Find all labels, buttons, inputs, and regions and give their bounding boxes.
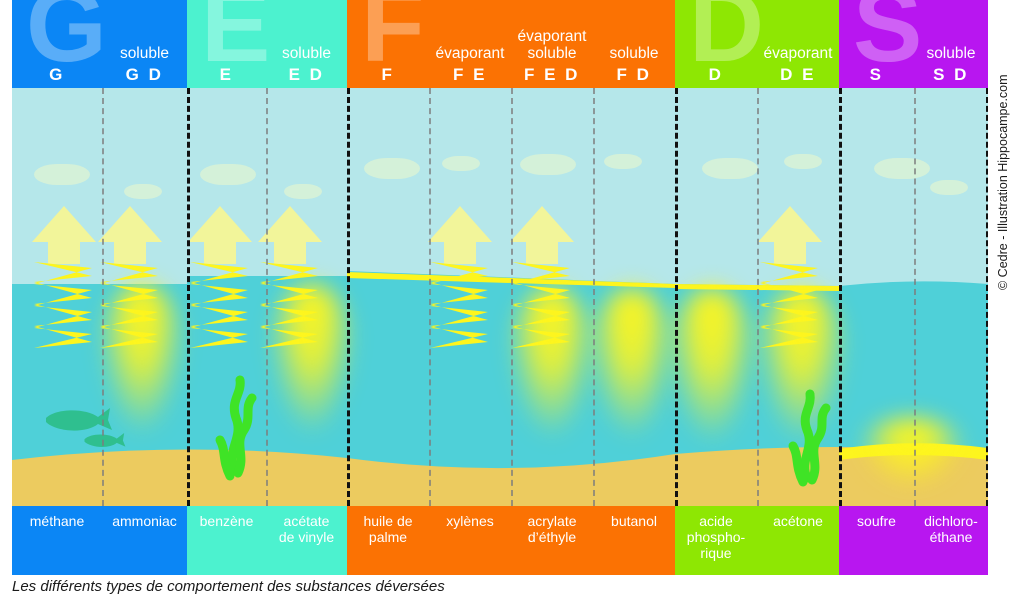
substance-label: butanol xyxy=(593,513,675,529)
column-header-fe[interactable]: évaporantF E xyxy=(429,0,511,88)
substance-cell-fed[interactable]: acrylate d’éthyle xyxy=(511,506,593,575)
column-header-fed[interactable]: évaporant solubleF E D xyxy=(511,0,593,88)
column-separator xyxy=(266,88,268,506)
credit-wrap: © Cedre - Illustration Hippocampe.com xyxy=(996,290,1020,560)
column-code: F D xyxy=(593,65,675,85)
column-separator xyxy=(429,88,431,506)
substance-label: méthane xyxy=(12,513,102,529)
column-header-e[interactable]: E xyxy=(187,0,266,88)
seaweed-icon-2 xyxy=(793,394,826,482)
header-row: GGAZEÉVAPORANTFFLOTTANTDDISSOUSSSÉDIMENT… xyxy=(12,0,988,88)
column-descriptor: soluble xyxy=(102,45,187,62)
fish-small-icon xyxy=(84,433,125,447)
group-separator xyxy=(187,88,190,506)
footer-row: méthaneammoniacbenzèneacétate de vinyleh… xyxy=(12,506,988,575)
credit-text: © Cedre - Illustration Hippocampe.com xyxy=(996,74,1010,290)
substance-label: benzène xyxy=(187,513,266,529)
substance-cell-gd[interactable]: ammoniac xyxy=(102,506,187,575)
substance-cell-sd[interactable]: dichloro- éthane xyxy=(914,506,988,575)
column-descriptor: évaporant xyxy=(429,45,511,62)
behaviour-diagram: GGAZEÉVAPORANTFFLOTTANTDDISSOUSSSÉDIMENT… xyxy=(12,0,988,575)
scene-panel xyxy=(12,88,988,506)
column-descriptor: évaporant soluble xyxy=(511,28,593,62)
column-code: D E xyxy=(757,65,839,85)
fish-icon xyxy=(42,236,44,506)
column-descriptor: soluble xyxy=(266,45,347,62)
group-separator xyxy=(675,88,678,506)
column-code: F xyxy=(347,65,429,85)
column-code: D xyxy=(675,65,757,85)
column-separator xyxy=(511,88,513,506)
column-descriptor: soluble xyxy=(593,45,675,62)
substance-cell-fe[interactable]: xylènes xyxy=(429,506,511,575)
column-header-s[interactable]: S xyxy=(839,0,914,88)
substance-cell-s[interactable]: soufre xyxy=(839,506,914,575)
column-header-d[interactable]: D xyxy=(675,0,757,88)
substance-cell-f[interactable]: huile de palme xyxy=(347,506,429,575)
column-code: F E xyxy=(429,65,511,85)
column-header-ed[interactable]: solubleE D xyxy=(266,0,347,88)
column-separator xyxy=(593,88,595,506)
seaweed-icon xyxy=(220,380,252,476)
substance-cell-ed[interactable]: acétate de vinyle xyxy=(266,506,347,575)
column-header-f[interactable]: F xyxy=(347,0,429,88)
substance-label: ammoniac xyxy=(102,513,187,529)
column-separator xyxy=(757,88,759,506)
column-code: E xyxy=(187,65,266,85)
group-separator xyxy=(347,88,350,506)
column-code: G xyxy=(12,65,102,85)
column-header-de[interactable]: évaporantD E xyxy=(757,0,839,88)
substance-cell-g[interactable]: méthane xyxy=(12,506,102,575)
column-header-fd[interactable]: solubleF D xyxy=(593,0,675,88)
column-code: F E D xyxy=(511,65,593,85)
column-code: S D xyxy=(914,65,988,85)
column-header-gd[interactable]: solubleG D xyxy=(102,0,187,88)
substance-label: acrylate d’éthyle xyxy=(511,513,593,545)
substance-cell-d[interactable]: acide phospho- rique xyxy=(675,506,757,575)
substance-label: soufre xyxy=(839,513,914,529)
column-code: E D xyxy=(266,65,347,85)
figure-caption: Les différents types de comportement des… xyxy=(12,578,445,595)
column-separator xyxy=(914,88,916,506)
substance-label: dichloro- éthane xyxy=(914,513,988,545)
substance-cell-de[interactable]: acétone xyxy=(757,506,839,575)
substance-label: acide phospho- rique xyxy=(675,513,757,561)
column-code: G D xyxy=(102,65,187,85)
column-descriptor: soluble xyxy=(914,45,988,62)
substance-cell-fd[interactable]: butanol xyxy=(593,506,675,575)
substance-label: acétone xyxy=(757,513,839,529)
column-header-sd[interactable]: solubleS D xyxy=(914,0,988,88)
column-header-g[interactable]: G xyxy=(12,0,102,88)
substance-label: huile de palme xyxy=(347,513,429,545)
substance-cell-e[interactable]: benzène xyxy=(187,506,266,575)
group-separator xyxy=(839,88,842,506)
column-separator xyxy=(102,88,104,506)
group-separator-end xyxy=(986,88,988,506)
column-code: S xyxy=(839,65,914,85)
substance-label: xylènes xyxy=(429,513,511,529)
substance-label: acétate de vinyle xyxy=(266,513,347,545)
column-descriptor: évaporant xyxy=(757,45,839,62)
